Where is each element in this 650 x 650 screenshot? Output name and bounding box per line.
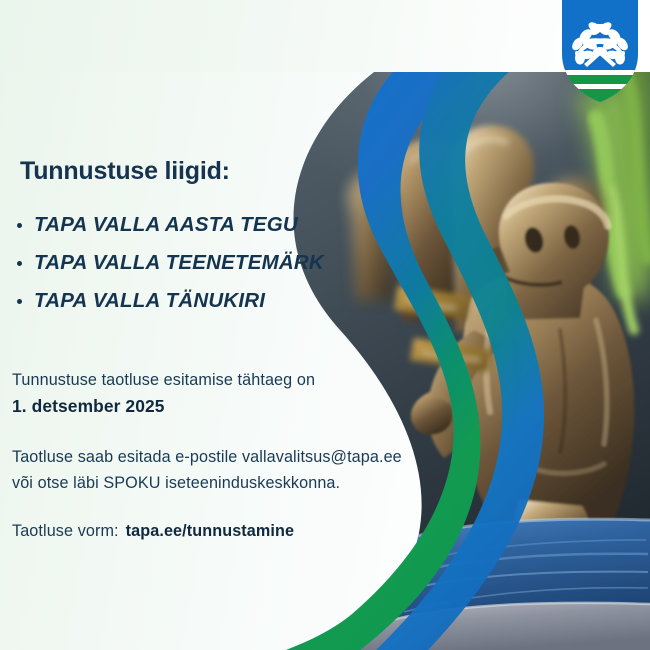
submission-line-1: Taotluse saab esitada e-postile vallaval… — [12, 448, 402, 466]
list-item: TAPA VALLA TÄNUKIRI — [10, 289, 324, 313]
tapa-vald-crest-icon — [558, 0, 642, 104]
submission-line-2: või otse läbi SPOKU iseteeninduskeskkonn… — [12, 472, 402, 495]
list-item: TAPA VALLA AASTA TEGU — [10, 213, 324, 237]
poster-canvas: Tapa vald otsib aasta teo kandidaate Tun… — [0, 0, 650, 650]
deadline-intro: Tunnustuse taotluse esitamise tähtaeg on — [12, 371, 315, 389]
award-types-list: TAPA VALLA AASTA TEGU TAPA VALLA TEENETE… — [10, 213, 324, 327]
deadline-block: Tunnustuse taotluse esitamise tähtaeg on… — [12, 369, 315, 419]
page-title: Tapa vald otsib aasta teo kandidaate — [22, 21, 489, 53]
list-item: TAPA VALLA TEENETEMÄRK — [10, 251, 324, 275]
form-label: Taotluse vorm: — [12, 522, 119, 540]
submission-block: Taotluse saab esitada e-postile vallaval… — [12, 446, 402, 495]
form-url[interactable]: tapa.ee/tunnustamine — [126, 522, 294, 540]
form-block: Taotluse vorm:tapa.ee/tunnustamine — [12, 520, 294, 543]
deadline-date: 1. detsember 2025 — [12, 394, 315, 419]
poster-content: Tapa vald otsib aasta teo kandidaate Tun… — [0, 0, 650, 650]
section-heading: Tunnustuse liigid: — [20, 157, 230, 186]
